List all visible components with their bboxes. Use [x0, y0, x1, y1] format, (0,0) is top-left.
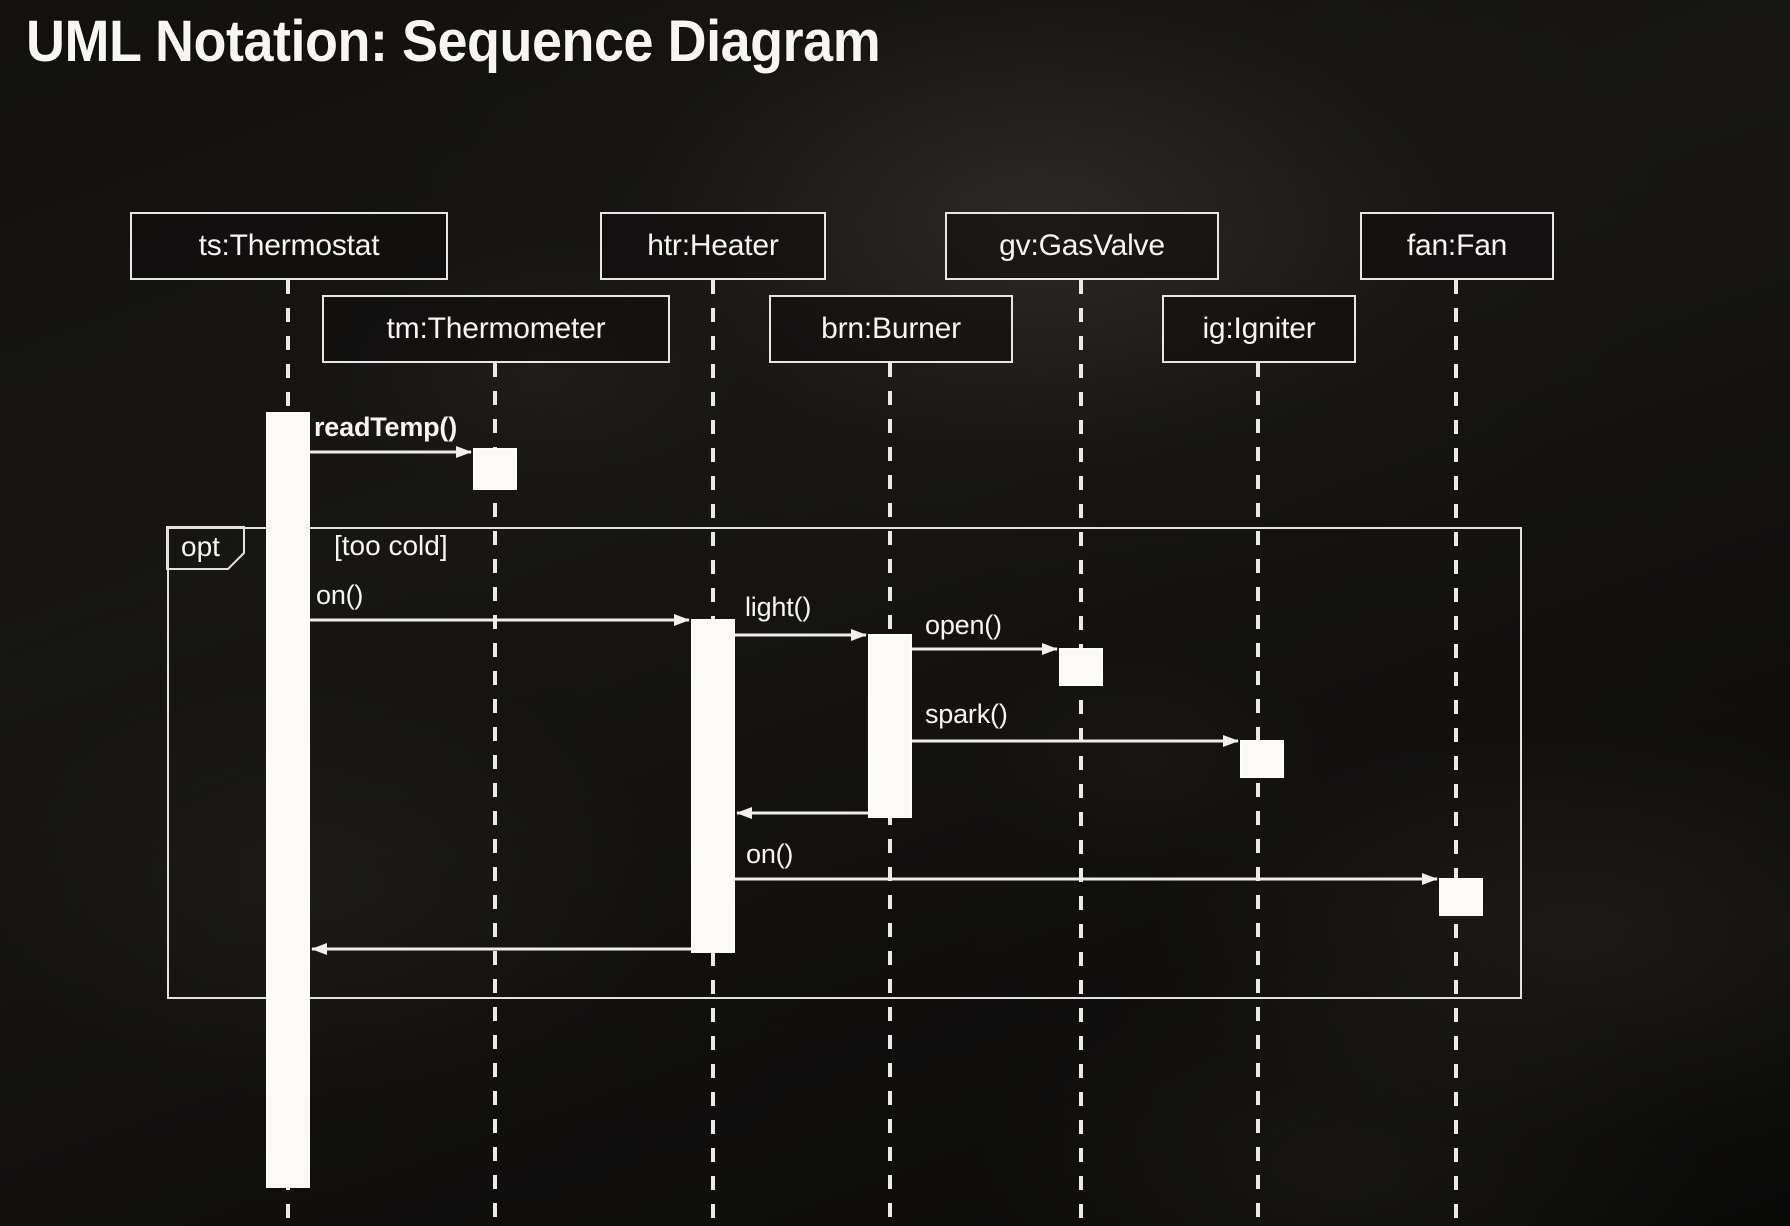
- message-label-m1: readTemp(): [314, 412, 457, 443]
- activation-bar-ig: [1240, 740, 1284, 778]
- fragment-operator-label: opt: [181, 531, 220, 563]
- fragment-guard-label: [too cold]: [334, 530, 448, 562]
- sequence-diagram: opt [too cold] ts:Thermostattm:Thermomet…: [0, 0, 1790, 1226]
- activation-bar-tm: [473, 448, 517, 490]
- lifeline-label: ts:Thermostat: [199, 229, 380, 263]
- lifeline-head-gv: gv:GasValve: [945, 212, 1219, 280]
- activation-bar-htr: [691, 619, 735, 953]
- lifeline-head-ig: ig:Igniter: [1162, 295, 1356, 363]
- lifeline-head-htr: htr:Heater: [600, 212, 826, 280]
- combined-fragment-opt: [167, 527, 1522, 999]
- lifeline-head-fan: fan:Fan: [1360, 212, 1554, 280]
- lifeline-head-brn: brn:Burner: [769, 295, 1013, 363]
- lifeline-head-ts: ts:Thermostat: [130, 212, 448, 280]
- lifeline-label: fan:Fan: [1407, 229, 1507, 263]
- lifeline-head-tm: tm:Thermometer: [322, 295, 670, 363]
- message-label-m4: open(): [925, 610, 1002, 641]
- lifeline-label: tm:Thermometer: [387, 312, 606, 346]
- slide-canvas: UML Notation: Sequence Diagram opt [too …: [0, 0, 1790, 1226]
- message-label-m2: on(): [316, 580, 363, 611]
- message-label-m7: on(): [746, 839, 793, 870]
- activation-bar-gv: [1059, 648, 1103, 686]
- page-title: UML Notation: Sequence Diagram: [26, 8, 880, 75]
- lifeline-label: htr:Heater: [647, 229, 778, 263]
- lifeline-label: ig:Igniter: [1202, 312, 1315, 346]
- activation-bar-ts: [266, 412, 310, 1188]
- activation-bar-fan: [1439, 878, 1483, 916]
- activation-bar-brn: [868, 634, 912, 818]
- message-label-m5: spark(): [925, 699, 1008, 730]
- lifeline-label: gv:GasValve: [999, 229, 1165, 263]
- message-label-m3: light(): [745, 592, 811, 623]
- lifeline-label: brn:Burner: [821, 312, 961, 346]
